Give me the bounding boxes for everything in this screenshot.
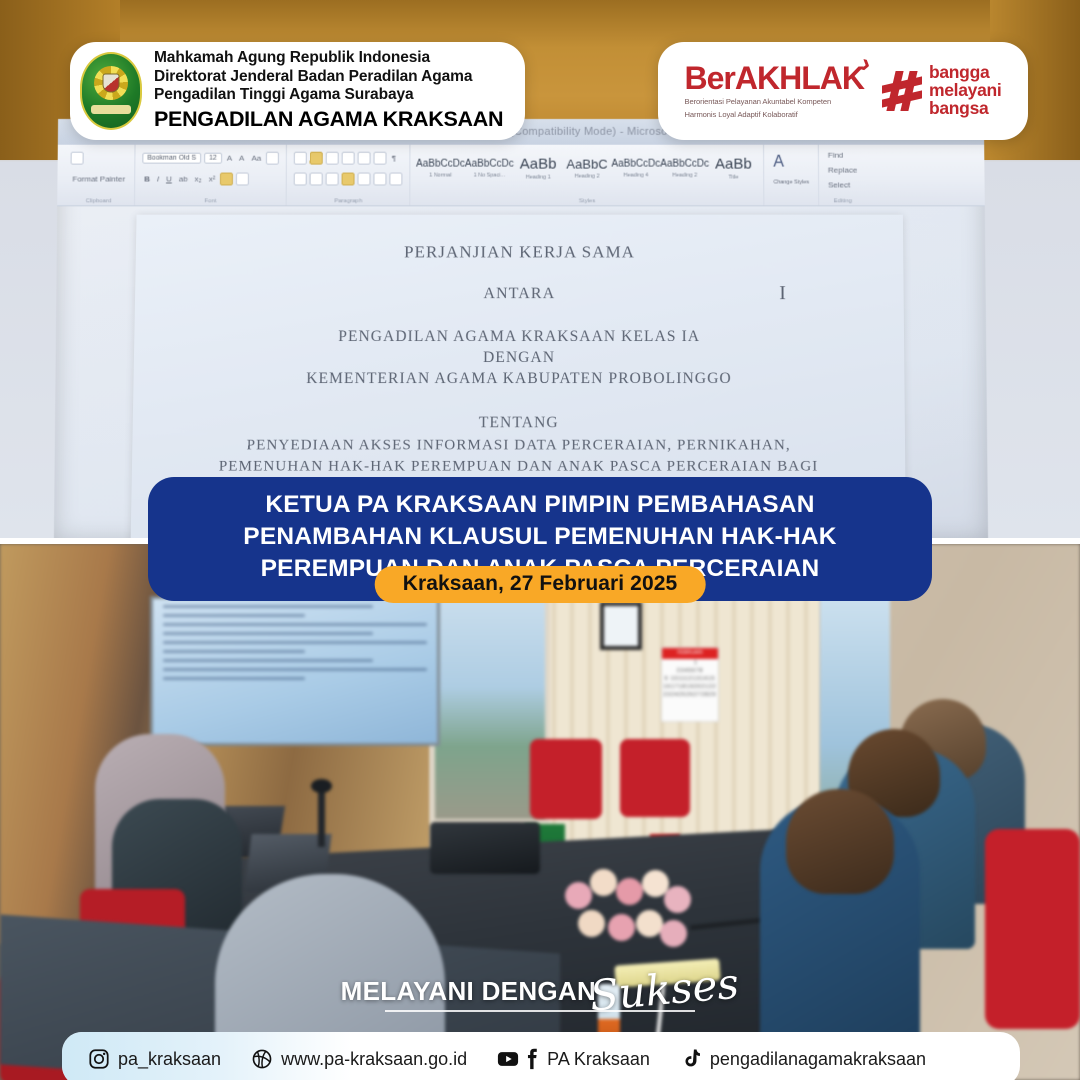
date-badge: Kraksaan, 27 Februari 2025 [375,566,706,603]
facebook-page-name: PA Kraksaan [547,1049,650,1070]
style-preview: AaBbCcDc [416,159,465,169]
paste-icon[interactable] [71,152,84,165]
strikethrough-icon[interactable]: ab [177,174,190,184]
bold-icon[interactable]: B [142,174,152,184]
bangga-melayani-bangsa-logo: bangga melayani bangsa [882,64,1002,118]
font-color-icon[interactable] [236,173,249,186]
berakhlak-logo: BerAKHLAK › Berorientasi Pelayanan Akunt… [685,62,864,121]
website-url: www.pa-kraksaan.go.id [281,1049,467,1070]
tagline-underline [385,1010,695,1012]
calendar-week-row: 23242526272829 [662,691,718,699]
bangga-line-3: bangsa [929,100,1002,118]
institution-text-block: Mahkamah Agung Republik Indonesia Direkt… [154,49,503,132]
institution-name: PENGADILAN AGAMA KRAKSAAN [154,107,503,132]
berakhlak-wordmark-text: BerAKHLAK [685,60,864,96]
ribbon-group-label: Paragraph [287,198,410,204]
header-line-1: Mahkamah Agung Republik Indonesia [154,49,503,67]
desk-microphone [318,789,325,847]
printer-device [430,822,540,874]
style-option[interactable]: AaBb Title [711,157,757,181]
berakhlak-wordmark: BerAKHLAK › [685,62,864,94]
institution-header-card: Mahkamah Agung Republik Indonesia Direkt… [70,42,525,140]
doc-heading-perjanjian: PERJANJIAN KERJA SAMA [136,240,904,263]
calendar-week-row: 16171819202122 [662,683,718,691]
style-option[interactable]: AaBbCcDc 1 Normal [418,159,464,178]
font-name-box[interactable]: Bookman Old S [142,153,201,164]
style-preview: AaBbC [566,158,607,171]
mahkamah-agung-emblem-icon [80,52,142,130]
berakhlak-tagline-2: Harmonis Loyal Adaptif Kolaboratif [685,110,798,120]
style-option[interactable]: AaBbCcDc Heading 4 [613,159,659,178]
grow-font-icon[interactable]: A [225,153,234,163]
change-styles-label[interactable]: Change Styles [771,180,811,187]
instagram-handle: pa_kraksaan [118,1049,221,1070]
footer-item-website[interactable]: www.pa-kraksaan.go.id [251,1048,467,1070]
header-line-2: Direktorat Jenderal Badan Peradilan Agam… [154,68,503,86]
bullets-icon[interactable] [294,152,307,165]
style-preview: AaBbCcDc [465,159,514,169]
style-option[interactable]: AaBb Heading 1 [515,157,561,181]
change-case-icon[interactable]: Aa [249,153,263,163]
wall-calendar: FEBRUARI 1 2345678 9 101112131415 161718… [661,647,719,722]
align-left-icon[interactable] [294,173,307,186]
ribbon-group-styles: AaBbCcDc 1 Normal AaBbCcDc 1 No Spaci...… [411,145,765,206]
doc-line-dengan: DENGAN [134,347,905,368]
style-option[interactable]: AaBbCcDc 1 No Spaci... [466,159,512,178]
italic-icon[interactable]: I [155,174,161,184]
title-line-1: KETUA PA KRAKSAAN PIMPIN PEMBAHASAN [265,489,814,521]
header-line-3: Pengadilan Tinggi Agama Surabaya [154,86,503,104]
ribbon-group-paragraph: ¶ Paragraph [287,145,411,206]
style-name: 1 Normal [429,172,451,178]
instagram-icon [88,1048,110,1070]
bangga-text-block: bangga melayani bangsa [929,64,1002,118]
ribbon-group-change-styles: A Change Styles [764,145,819,206]
align-center-icon[interactable] [310,173,323,186]
justify-icon[interactable] [342,173,355,186]
replace-label[interactable]: Replace [826,165,859,175]
increase-indent-icon[interactable] [358,152,371,165]
ribbon-group-font: Bookman Old S 12 A A Aa B I U ab [135,145,287,206]
style-name: Heading 2 [672,172,697,178]
chair-red [530,739,602,819]
doc-line-party2: KEMENTERIAN AGAMA KABUPATEN PROBOLINGGO [133,368,904,389]
style-name: Heading 2 [574,174,599,180]
ribbon-group-label: Styles [411,198,764,204]
calendar-week-row: 2345678 [662,667,718,675]
attendee-head [786,789,894,894]
line-spacing-icon[interactable] [358,173,371,186]
footer-item-youtube-facebook[interactable]: PA Kraksaan [497,1048,650,1070]
style-name: 1 No Spaci... [474,172,505,178]
calendar-month-header: FEBRUARI [662,648,718,659]
multilevel-list-icon[interactable] [326,152,339,165]
format-painter-label[interactable]: Format Painter [70,174,127,184]
swoosh-icon: › [860,49,880,74]
chair-red [620,739,690,817]
style-option[interactable]: AaBbC Heading 2 [564,158,610,180]
style-preview: AaBb [520,157,557,172]
style-preview: AaBb [715,157,752,172]
ribbon-group-editing: Find Replace Select Editing [819,145,867,206]
footer-item-tiktok[interactable]: pengadilanagamakraksaan [680,1048,926,1070]
tagline-main: MELAYANI DENGAN [341,976,596,1007]
wall-picture-frame [600,602,642,650]
doc-line-subject1: PENYEDIAAN AKSES INFORMASI DATA PERCERAI… [132,435,905,456]
numbering-icon[interactable] [310,152,323,165]
align-right-icon[interactable] [326,173,339,186]
ribbon-group-clipboard: Format Painter Clipboard [63,145,135,206]
calendar-week-row: 1 [662,659,718,667]
projection-screen-small [150,596,440,746]
word-ribbon: Format Painter Clipboard Bookman Old S 1… [57,145,985,207]
find-label[interactable]: Find [826,150,846,160]
change-styles-icon[interactable]: A [771,154,786,172]
style-preview: AaBbCcDc [611,159,660,169]
sort-icon[interactable] [374,152,387,165]
facebook-icon [525,1048,539,1070]
text-cursor-icon: I [779,282,786,305]
hashtag-icon [882,71,922,111]
font-size-box[interactable]: 12 [204,153,222,164]
style-name: Heading 1 [526,175,551,181]
tiktok-icon [680,1048,702,1070]
style-preview: AaBbCcDc [660,159,709,169]
superscript-icon[interactable]: x² [207,174,218,184]
shading-icon[interactable] [374,173,387,186]
doc-line-antara: ANTARA [135,284,904,306]
footer-item-instagram[interactable]: pa_kraksaan [88,1048,221,1070]
ribbon-group-label: Clipboard [63,198,134,204]
style-name: Title [728,175,738,181]
doc-line-tentang: TENTANG [133,412,905,433]
style-option[interactable]: AaBbCcDc Heading 2 [662,159,708,178]
style-name: Heading 4 [623,172,648,178]
poster-canvas: ...ERJANJIAN KERJA SAMA.doc (Compatibili… [0,0,1080,1080]
decrease-indent-icon[interactable] [342,152,355,165]
tagline-watermark: MELAYANI DENGAN Sukses [341,965,740,1007]
select-label[interactable]: Select [826,180,852,190]
shrink-font-icon[interactable]: A [237,153,246,163]
subscript-icon[interactable]: x₂ [193,174,204,184]
show-marks-icon[interactable]: ¶ [390,153,398,163]
borders-icon[interactable] [390,173,403,186]
globe-icon [251,1048,273,1070]
tiktok-handle: pengadilanagamakraksaan [710,1049,926,1070]
clear-formatting-icon[interactable] [266,152,279,165]
flower-arrangement [560,864,705,959]
text-highlight-icon[interactable] [220,173,233,186]
ribbon-group-label: Editing [819,198,866,204]
youtube-icon [497,1048,519,1070]
underline-icon[interactable]: U [164,174,174,184]
social-footer-bar: pa_kraksaan www.pa-kraksaan.go.id PA Kra… [62,1032,1020,1080]
calendar-week-row: 9 101112131415 [662,675,718,683]
berakhlak-header-card: BerAKHLAK › Berorientasi Pelayanan Akunt… [658,42,1028,140]
doc-line-party1: PENGADILAN AGAMA KRAKSAAN KELAS IA [134,326,904,347]
title-line-2: PENAMBAHAN KLAUSUL PEMENUHAN HAK-HAK [243,521,836,553]
ribbon-group-label: Font [135,198,286,204]
doc-line-subject2: PEMENUHAN HAK-HAK PEREMPUAN DAN ANAK PAS… [132,456,906,477]
berakhlak-tagline-1: Berorientasi Pelayanan Akuntabel Kompete… [685,97,832,107]
chair-red [985,829,1080,1029]
